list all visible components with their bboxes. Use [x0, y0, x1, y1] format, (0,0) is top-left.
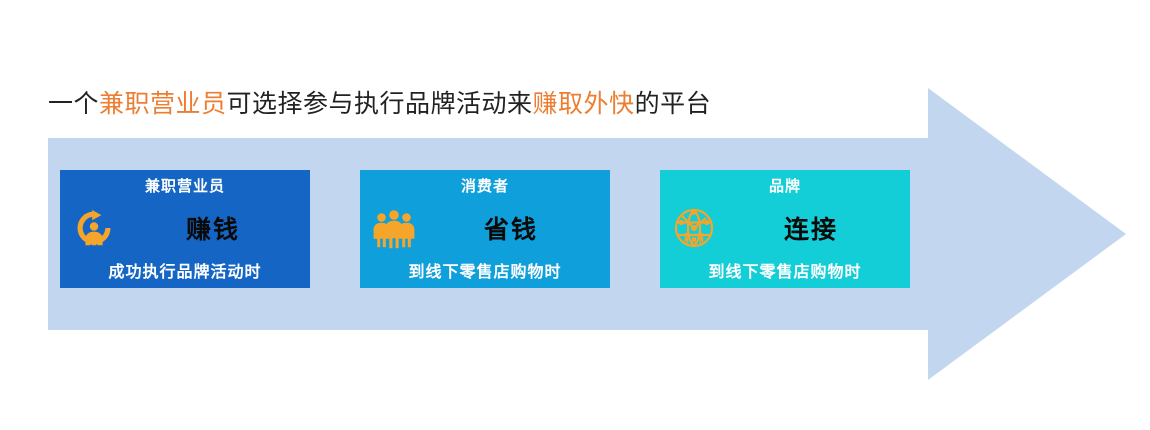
card-row: 兼职营业员 赚钱 成功执行品牌活动时 消费者: [60, 170, 910, 288]
card-title: 品牌: [660, 175, 910, 196]
card-main-label: 赚钱: [122, 210, 304, 246]
page-title: 一个兼职营业员可选择参与执行品牌活动来赚取外快的平台: [48, 88, 711, 122]
headline-segment-5: 的平台: [635, 91, 712, 118]
person-refresh-circle-icon: [68, 202, 120, 254]
slide-canvas: 一个兼职营业员可选择参与执行品牌活动来赚取外快的平台 兼职营业员 赚钱 成功执行…: [0, 0, 1150, 430]
globe-network-people-icon: [668, 202, 720, 254]
card-part-time-clerk[interactable]: 兼职营业员 赚钱 成功执行品牌活动时: [60, 170, 310, 288]
headline-segment-2-highlight: 兼职营业员: [99, 91, 227, 118]
card-title: 兼职营业员: [60, 175, 310, 196]
card-consumer[interactable]: 消费者 省钱 到线下零售店购物时: [360, 170, 610, 288]
three-people-group-icon: [368, 202, 420, 254]
card-caption: 成功执行品牌活动时: [60, 258, 310, 282]
headline-segment-4-highlight: 赚取外快: [533, 91, 635, 118]
card-title: 消费者: [360, 175, 610, 196]
headline-segment-1: 一个: [48, 91, 99, 118]
card-brand[interactable]: 品牌: [660, 170, 910, 288]
card-caption: 到线下零售店购物时: [360, 258, 610, 282]
card-caption: 到线下零售店购物时: [660, 258, 910, 282]
card-main-label: 省钱: [418, 210, 604, 246]
card-main-label: 连接: [718, 210, 904, 246]
headline-segment-3: 可选择参与执行品牌活动来: [227, 91, 533, 118]
